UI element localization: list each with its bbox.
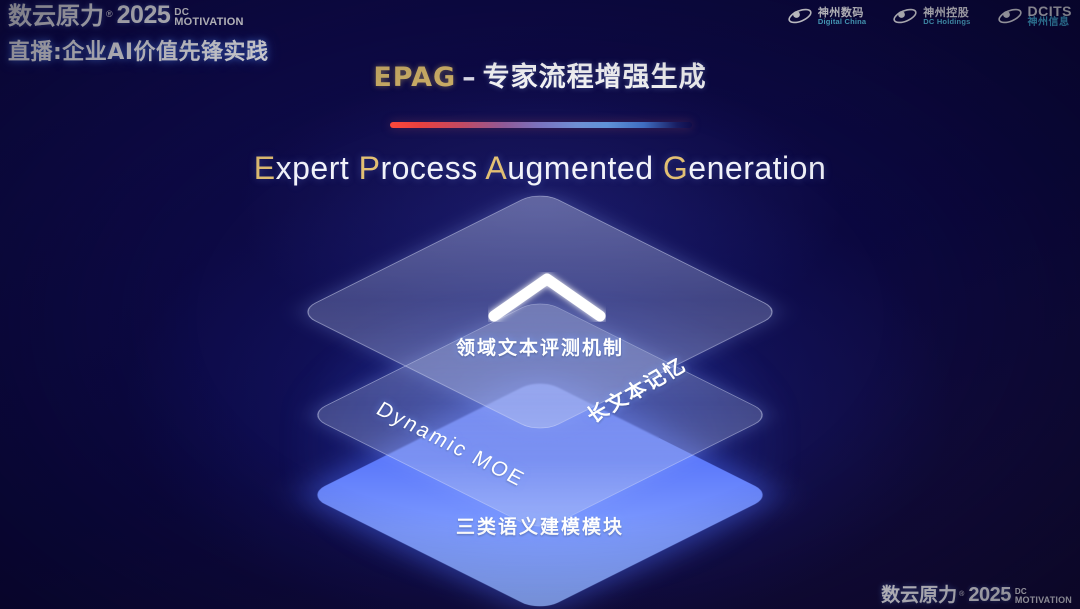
watermark-name-cn: 数云原力 [881,586,957,605]
layer-stack-diagram: Dynamic MOE 长文本记忆 领域文本评测机制 三类语义建模模块 [0,0,1080,609]
watermark-dc-line2: MOTIVATION [1015,596,1072,604]
diagram-plate-top [297,190,783,433]
diagram-layer-top [368,140,712,484]
watermark-year: 2025 [968,585,1011,605]
watermark-dc-motivation: DC MOTIVATION [1015,588,1072,604]
watermark-registered-mark: ® [959,591,964,598]
footer-watermark: 数云原力 ® 2025 DC MOTIVATION [881,585,1072,605]
slide-canvas: 数云原力 ® 2025 DC MOTIVATION 直播:企业AI价值先锋实践 … [0,0,1080,609]
